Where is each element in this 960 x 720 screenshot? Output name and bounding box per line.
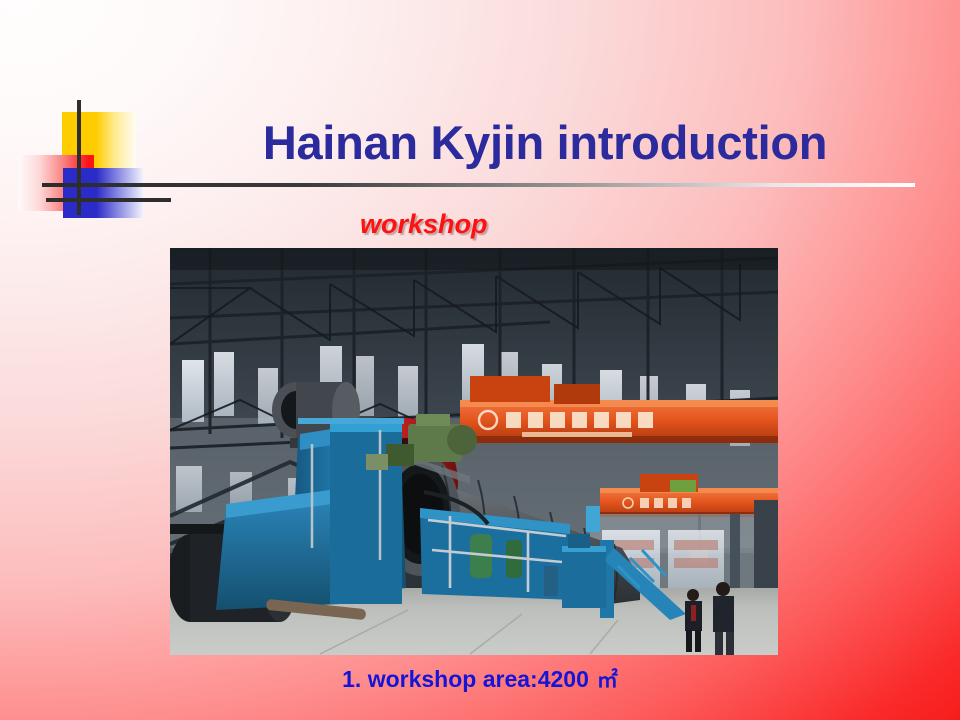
crane-banner-phone	[522, 432, 632, 437]
slide-subtitle: workshop	[360, 209, 488, 240]
horizontal-line-icon	[46, 198, 171, 202]
workshop-photo	[170, 248, 778, 655]
blue-square-icon	[63, 168, 143, 218]
crane-banner-text	[506, 412, 653, 428]
decorative-motif	[18, 100, 148, 215]
workshop-photo-illustration	[170, 248, 778, 655]
title-divider	[42, 183, 915, 187]
presentation-slide: Hainan Kyjin introduction workshop	[0, 0, 960, 720]
caption-unit: ㎡	[589, 668, 618, 692]
photo-caption: 1. workshop area:4200㎡	[0, 664, 960, 694]
slide-title: Hainan Kyjin introduction	[150, 118, 940, 167]
caption-text: 1. workshop area:4200	[342, 666, 589, 692]
